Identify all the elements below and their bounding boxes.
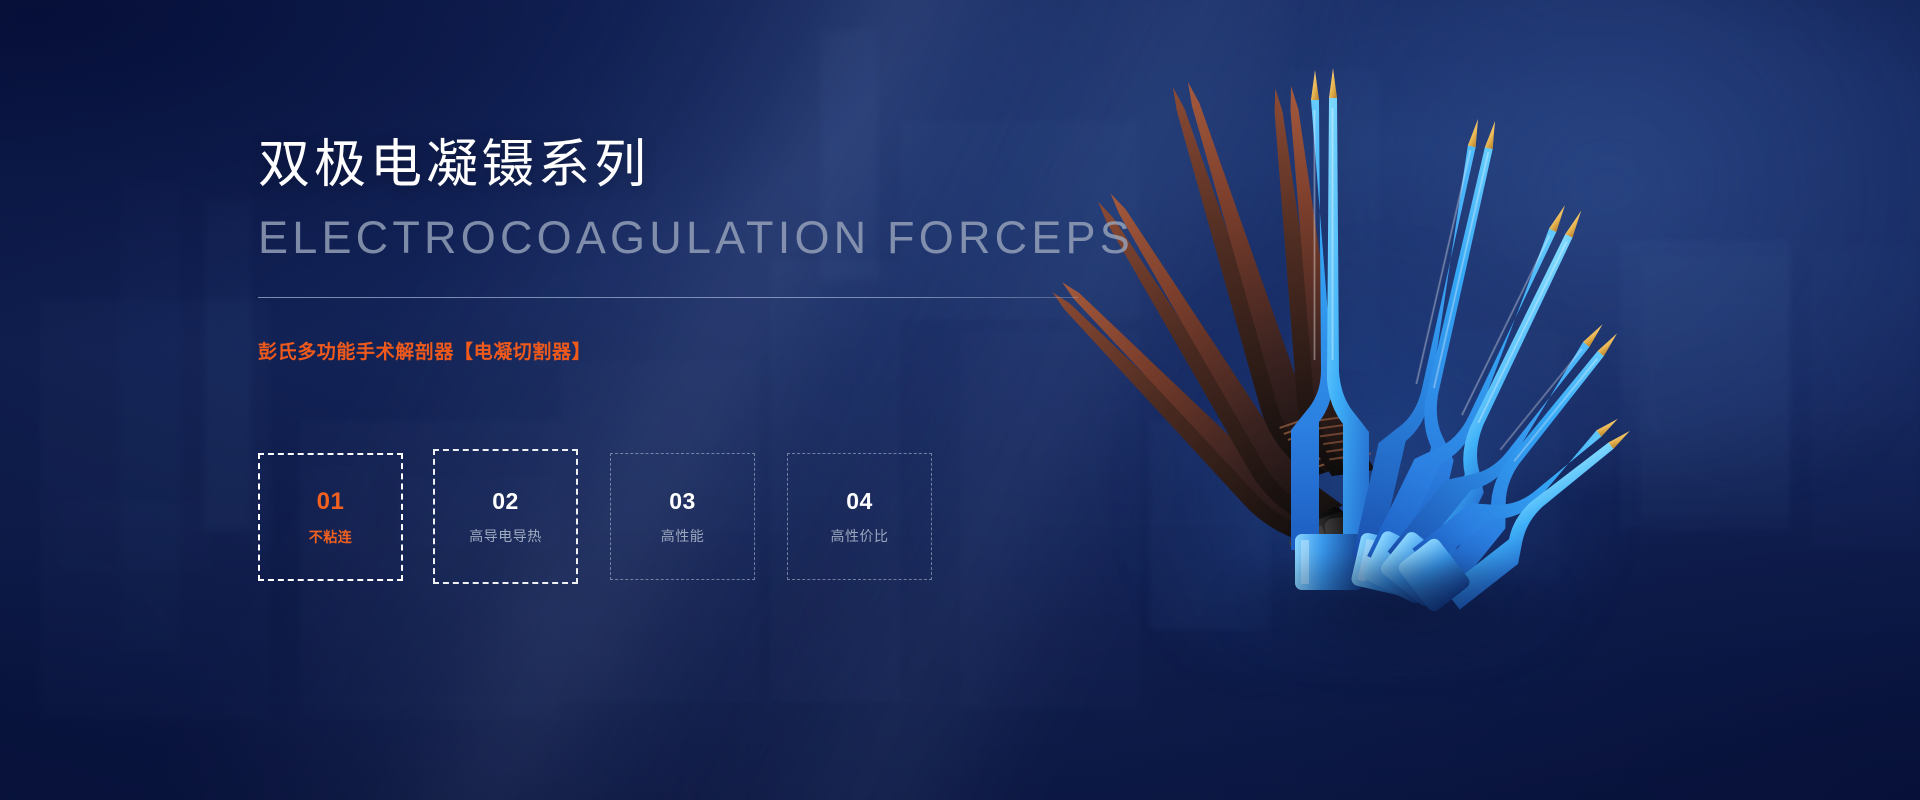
vignette-overlay xyxy=(0,0,1920,800)
product-banner: 双极电凝镊系列 ELECTROCOAGULATION FORCEPS 彭氏多功能… xyxy=(0,0,1920,800)
